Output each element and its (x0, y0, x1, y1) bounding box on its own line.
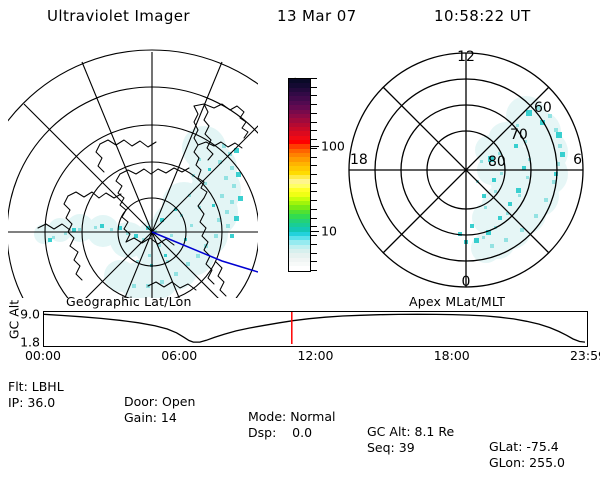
colorbar-tick (311, 122, 317, 123)
intensity-colorbar: photon cm-2s-1 10010 (262, 60, 352, 295)
colorbar-tick (311, 253, 317, 254)
orbit-x-tick: 23:59 (570, 348, 600, 363)
colorbar-tick (311, 87, 317, 88)
status-gain: Gain: 14 (124, 410, 177, 425)
orbit-x-tick: 18:00 (434, 348, 470, 363)
colorbar-tick (311, 209, 317, 210)
colorbar-tick (311, 113, 317, 114)
colorbar-tick-marks (311, 78, 319, 272)
apex-plot-canvas: 12 18 6 0 60 70 80 (340, 44, 592, 296)
colorbar-major-tick (311, 146, 319, 147)
colorbar-tick (311, 165, 317, 166)
apex-polar-plot[interactable]: 12 18 6 0 60 70 80 (340, 44, 592, 296)
colorbar-tick (311, 261, 317, 262)
mlt-label-6: 6 (573, 152, 582, 168)
geographic-polar-plot[interactable] (8, 48, 258, 298)
orbit-plot-box (43, 311, 588, 347)
orbit-y-tick-labels: 9.01.8 (0, 300, 40, 346)
auroral-emission-pixels (34, 126, 243, 298)
colorbar-tick (311, 270, 317, 271)
auroral-oval-pixels (458, 96, 568, 263)
mlt-label-18: 18 (350, 152, 368, 168)
altitude-trace (44, 314, 585, 342)
colorbar-tick (311, 235, 317, 236)
colorbar-tick (311, 244, 317, 245)
orbit-altitude-panel[interactable]: GC Alt 9.01.8 00:0006:0012:0018:0023:59 (0, 300, 600, 360)
geographic-plot-canvas (8, 48, 258, 298)
colorbar-tick (311, 130, 317, 131)
orbit-x-tick: 12:00 (297, 348, 333, 363)
colorbar-tick (311, 139, 317, 140)
colorbar-tick (311, 226, 317, 227)
status-ip: IP: 36.0 (8, 395, 55, 410)
status-glon: GLon: 255.0 (489, 455, 565, 470)
mlt-label-0: 0 (462, 274, 471, 290)
colorbar-tick (311, 148, 317, 149)
colorbar-tick (311, 104, 317, 105)
colorbar-tick (311, 95, 317, 96)
colorbar-tick (311, 218, 317, 219)
mlat-label-70: 70 (510, 127, 528, 143)
status-dsp: Dsp: 0.0 (248, 425, 312, 440)
colorbar-gradient-strip (288, 78, 311, 272)
status-gcalt: GC Alt: 8.1 Re (367, 424, 454, 439)
mlat-label-80: 80 (488, 154, 506, 170)
observation-date: 13 Mar 07 (277, 7, 357, 25)
colorbar-major-tick (311, 231, 319, 232)
mlt-spokes (349, 53, 583, 287)
colorbar-value-label: 10 (321, 223, 337, 238)
orbit-x-tick: 00:00 (25, 348, 61, 363)
orbit-x-tick: 06:00 (161, 348, 197, 363)
mlt-label-12: 12 (457, 49, 475, 65)
status-glat: GLat: -75.4 (489, 439, 559, 454)
status-row: IP: 36.0 Gain: 14 Dsp: 0.0 Seq: 39 GLon:… (0, 380, 600, 396)
colorbar-tick (311, 200, 317, 201)
colorbar-tick (311, 174, 317, 175)
colorbar-band (289, 266, 310, 270)
status-mode: Mode: Normal (248, 409, 335, 424)
colorbar-tick (311, 157, 317, 158)
status-seq: Seq: 39 (367, 440, 415, 455)
colorbar-tick (311, 78, 317, 79)
orbit-curve-canvas (44, 312, 585, 344)
observation-time: 10:58:22 UT (434, 7, 531, 25)
orbit-y-tick: 9.0 (20, 306, 40, 321)
colorbar-tick (311, 191, 317, 192)
status-bar: Flt: LBHL Door: Open Mode: Normal GC Alt… (0, 364, 600, 398)
status-door: Door: Open (124, 394, 195, 409)
title-bar: Ultraviolet Imager 13 Mar 07 10:58:22 UT (0, 4, 600, 30)
status-row: Flt: LBHL Door: Open Mode: Normal GC Alt… (0, 364, 600, 380)
instrument-name: Ultraviolet Imager (47, 7, 190, 25)
orbit-x-tick-labels: 00:0006:0012:0018:0023:59 (0, 348, 600, 364)
mlat-label-60: 60 (534, 100, 552, 116)
colorbar-tick (311, 183, 317, 184)
